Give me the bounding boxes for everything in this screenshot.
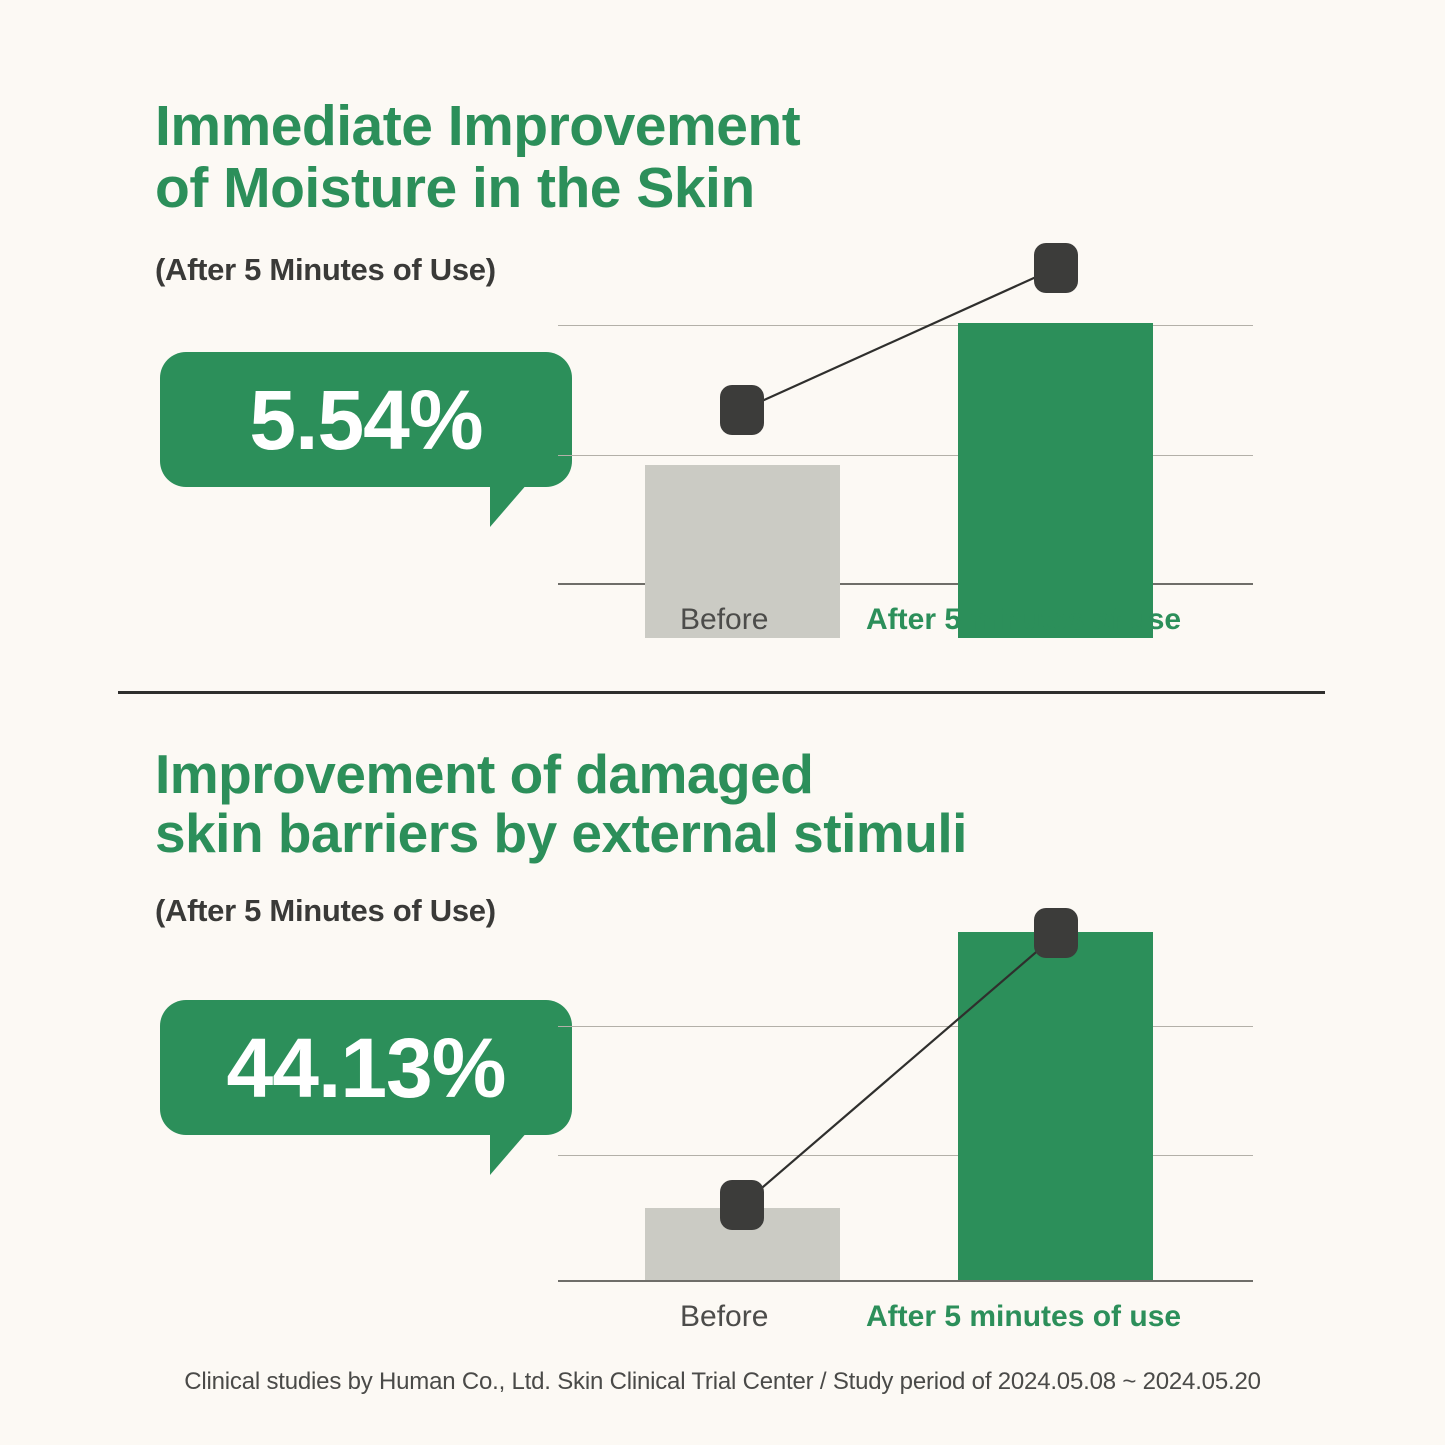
page-title-moisture: Immediate Improvement of Moisture in the… xyxy=(155,96,800,219)
callout-value-moisture: 5.54% xyxy=(249,378,482,462)
subtitle-moisture: (After 5 Minutes of Use) xyxy=(155,252,496,288)
callout-value-barrier: 44.13% xyxy=(227,1026,506,1110)
callout-tail-icon xyxy=(490,1131,528,1175)
page-title-barrier: Improvement of damaged skin barriers by … xyxy=(155,745,967,864)
chart-moisture: Before After 5 minutes of use xyxy=(558,240,1258,640)
callout-bubble-barrier: 44.13% xyxy=(160,1000,572,1135)
subtitle-barrier: (After 5 Minutes of Use) xyxy=(155,893,496,929)
data-marker-after xyxy=(1034,243,1078,293)
chart-barrier: Before After 5 minutes of use xyxy=(558,905,1258,1345)
data-marker-before xyxy=(720,1180,764,1230)
trend-line xyxy=(558,905,1258,1345)
callout-bubble-moisture: 5.54% xyxy=(160,352,572,487)
callout-tail-icon xyxy=(490,483,528,527)
infographic-page: Immediate Improvement of Moisture in the… xyxy=(0,0,1445,1445)
section-moisture: Immediate Improvement of Moisture in the… xyxy=(0,0,1445,693)
section-barrier: Improvement of damaged skin barriers by … xyxy=(0,693,1445,1445)
data-marker-before xyxy=(720,385,764,435)
footer-study-note: Clinical studies by Human Co., Ltd. Skin… xyxy=(0,1368,1445,1396)
trend-line xyxy=(558,240,1258,640)
data-marker-after xyxy=(1034,908,1078,958)
